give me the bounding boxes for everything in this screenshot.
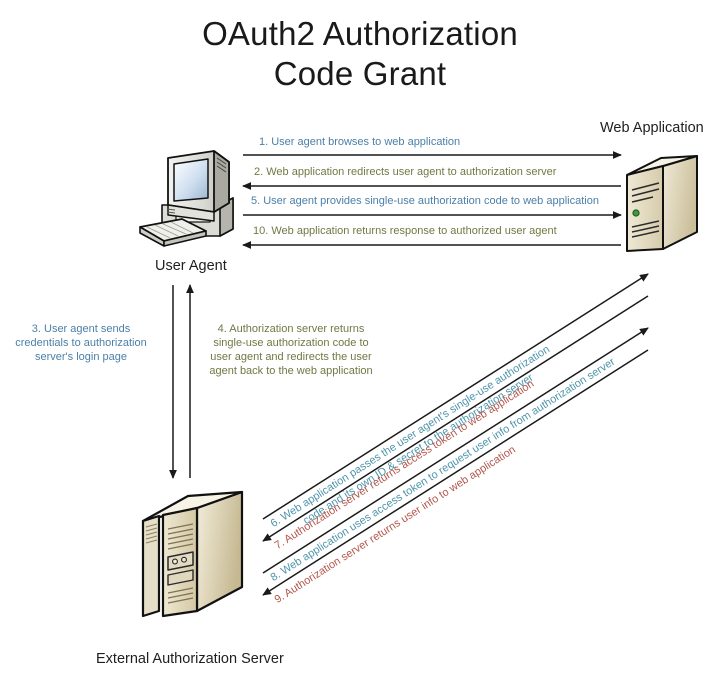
page-title: OAuth2 Authorization Code Grant [0, 14, 720, 94]
title-line-2: Code Grant [0, 54, 720, 94]
flow-label-step-4: 4. Authorization server returns single-u… [205, 322, 377, 378]
vertical-arrows [173, 285, 190, 478]
flow-label-step-2: 2. Web application redirects user agent … [254, 165, 556, 179]
node-label-authorization-server: External Authorization Server [96, 651, 284, 667]
node-label-web-application: Web Application [600, 120, 704, 136]
title-line-1: OAuth2 Authorization [0, 14, 720, 54]
server-tower-icon-authorization-server [131, 483, 253, 623]
flow-label-step-1: 1. User agent browses to web application [259, 135, 460, 149]
desktop-computer-icon [134, 143, 244, 258]
node-label-user-agent: User Agent [155, 258, 227, 274]
diagram-canvas: OAuth2 Authorization Code Grant [0, 0, 720, 680]
flow-label-step-8: 8. Web application uses access token to … [268, 355, 618, 586]
flow-label-step-3: 3. User agent sends credentials to autho… [6, 322, 156, 364]
flow-label-step-10: 10. Web application returns response to … [253, 224, 557, 238]
arrow-step-9 [263, 350, 648, 595]
server-tower-icon-web-application [619, 152, 703, 258]
flow-label-step-5: 5. User agent provides single-use author… [251, 194, 599, 208]
